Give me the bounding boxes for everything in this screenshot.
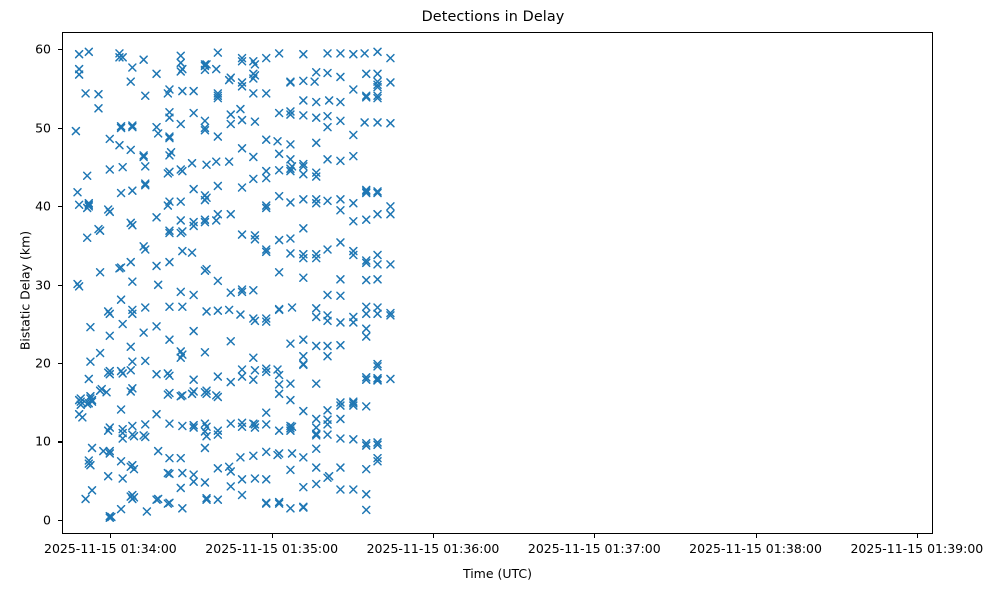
y-tick-label: 50	[35, 120, 51, 135]
x-tick-mark	[756, 534, 757, 538]
x-tick-mark	[594, 534, 595, 538]
page-title: Detections in Delay	[0, 9, 986, 25]
x-tick-label: 2025-11-15 01:38:00	[689, 541, 822, 556]
x-axis-label: Time (UTC)	[62, 566, 933, 581]
x-tick-mark	[272, 534, 273, 538]
x-tick-label: 2025-11-15 01:37:00	[528, 541, 661, 556]
plot-area[interactable]	[62, 32, 933, 534]
matplotlib-figure: Detections in Delay 0102030405060 Bistat…	[0, 0, 986, 590]
y-tick-label: 0	[43, 512, 51, 527]
x-tick-label: 2025-11-15 01:36:00	[367, 541, 500, 556]
x-tick-label: 2025-11-15 01:35:00	[205, 541, 338, 556]
y-tick-label: 10	[35, 434, 51, 449]
x-tick-mark	[917, 534, 918, 538]
x-tick-mark	[110, 534, 111, 538]
x-tick-mark	[433, 534, 434, 538]
y-tick-label: 20	[35, 356, 51, 371]
y-tick-label: 30	[35, 277, 51, 292]
x-tick-label: 2025-11-15 01:34:00	[44, 541, 177, 556]
y-tick-label: 40	[35, 199, 51, 214]
y-axis-label: Bistatic Delay (km)	[18, 191, 33, 391]
y-tick-label: 60	[35, 42, 51, 57]
x-tick-label: 2025-11-15 01:39:00	[850, 541, 983, 556]
scatter-series	[63, 33, 933, 534]
